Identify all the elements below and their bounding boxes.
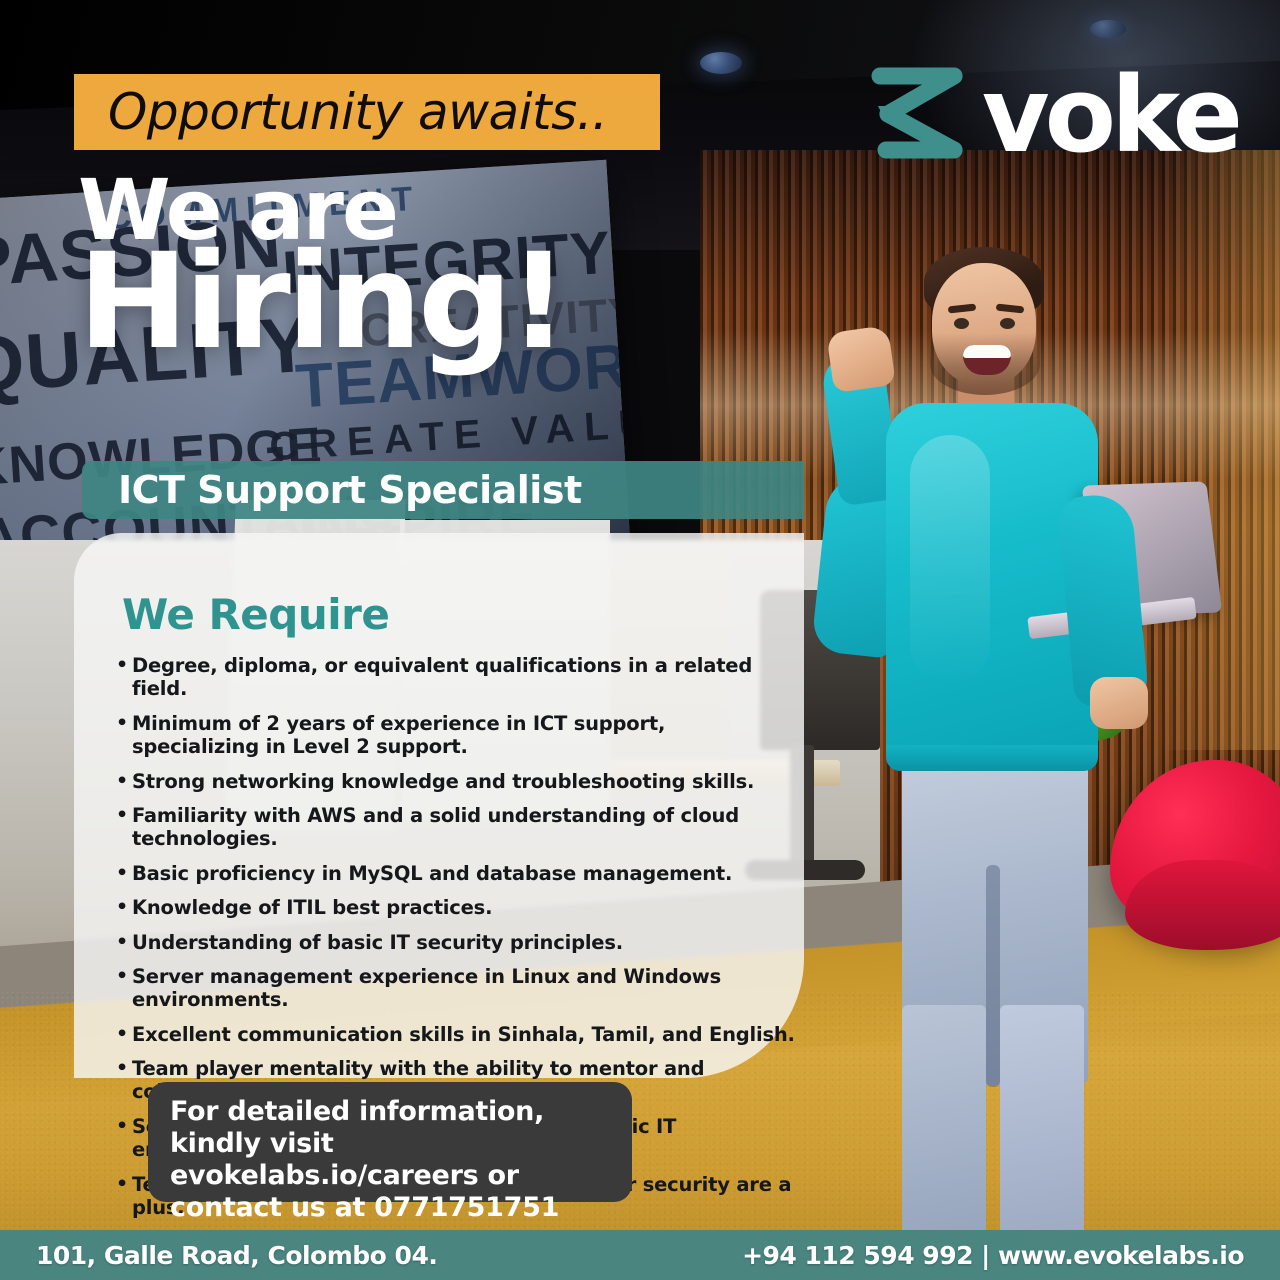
bullet-icon: • (116, 931, 128, 954)
contact-line-3: contact us at 0771751751 (170, 1192, 632, 1224)
role-title-text: ICT Support Specialist (118, 468, 582, 512)
teeth (963, 345, 1011, 358)
list-item: • Understanding of basic IT security pri… (116, 931, 796, 954)
list-item: • Degree, diploma, or equivalent qualifi… (116, 654, 796, 701)
bullet-icon: • (116, 1023, 128, 1046)
sweater-highlight (910, 435, 990, 685)
contact-line-1: For detailed information, (170, 1096, 632, 1128)
right-leg (1000, 1005, 1084, 1255)
eye (1000, 318, 1015, 329)
bullet-icon: • (116, 804, 128, 827)
raised-fist (826, 325, 896, 393)
list-item: • Knowledge of ITIL best practices. (116, 896, 796, 919)
headline-line-2: Hiring! (78, 243, 565, 362)
list-item-text: Understanding of basic IT security princ… (132, 931, 623, 954)
hiring-poster: PASSION COMMITMENT INTEGRITY QUALITY TEA… (0, 0, 1280, 1280)
sweater-hem (886, 745, 1098, 771)
list-item-text: Familiarity with AWS and a solid underst… (132, 804, 796, 851)
tagline-banner: Opportunity awaits.. (74, 74, 660, 150)
bullet-icon: • (116, 712, 128, 735)
bullet-icon: • (116, 896, 128, 919)
footer-contact: +94 112 594 992 | www.evokelabs.io (742, 1241, 1244, 1270)
evoke-logo: voke (866, 62, 1238, 170)
contact-line-2: kindly visit evokelabs.io/careers or (170, 1128, 632, 1192)
list-item-text: Strong networking knowledge and troubles… (132, 770, 754, 793)
bullet-icon: • (116, 1115, 128, 1138)
role-title-banner: ICT Support Specialist (82, 461, 804, 519)
contact-callout: For detailed information, kindly visit e… (148, 1082, 632, 1202)
person-photo (790, 225, 1210, 1165)
list-item: • Basic proficiency in MySQL and databas… (116, 862, 796, 885)
bullet-icon: • (116, 654, 128, 677)
footer-address: 101, Galle Road, Colombo 04. (36, 1241, 437, 1270)
logo-wordmark: voke (982, 71, 1238, 160)
bullet-icon: • (116, 770, 128, 793)
list-item: • Minimum of 2 years of experience in IC… (116, 712, 796, 759)
right-hand (1090, 677, 1148, 729)
evoke-e-mark (866, 62, 976, 170)
footer-bar: 101, Galle Road, Colombo 04. +94 112 594… (0, 1230, 1280, 1280)
jeans-seam (986, 865, 1000, 1087)
ceiling-light-icon (1090, 20, 1126, 38)
list-item-text: Basic proficiency in MySQL and database … (132, 862, 732, 885)
bullet-icon: • (116, 965, 128, 988)
list-item: • Familiarity with AWS and a solid under… (116, 804, 796, 851)
ceiling-light-icon (700, 52, 742, 74)
smiling-mouth (963, 345, 1011, 375)
tagline-text: Opportunity awaits.. (108, 83, 607, 141)
headline: We are Hiring! (78, 172, 565, 362)
list-item-text: Server management experience in Linux an… (132, 965, 796, 1012)
list-item-text: Knowledge of ITIL best practices. (132, 896, 492, 919)
list-item-text: Excellent communication skills in Sinhal… (132, 1023, 795, 1046)
bullet-icon: • (116, 1173, 128, 1196)
list-item: • Strong networking knowledge and troubl… (116, 770, 796, 793)
list-item: • Server management experience in Linux … (116, 965, 796, 1012)
bullet-icon: • (116, 1057, 128, 1080)
bullet-icon: • (116, 862, 128, 885)
list-item-text: Degree, diploma, or equivalent qualifica… (132, 654, 796, 701)
list-item: • Excellent communication skills in Sinh… (116, 1023, 796, 1046)
requirements-heading: We Require (122, 590, 389, 639)
list-item-text: Minimum of 2 years of experience in ICT … (132, 712, 796, 759)
eye (954, 318, 969, 329)
left-leg (902, 1005, 986, 1255)
